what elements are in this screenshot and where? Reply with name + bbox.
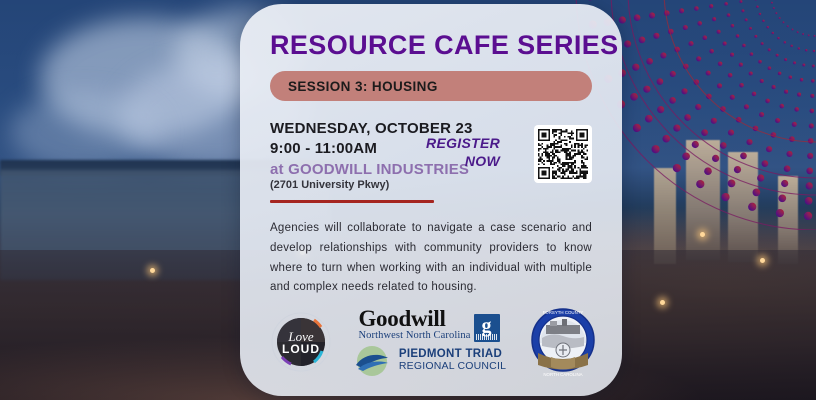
street-light bbox=[150, 268, 155, 273]
session-badge-label: SESSION 3: HOUSING bbox=[288, 79, 438, 94]
register-line-1: REGISTER bbox=[426, 135, 500, 153]
goodwill-smiling-g-icon: g bbox=[474, 314, 500, 342]
goodwill-wordmark: Goodwill Northwest North Carolina bbox=[358, 307, 470, 342]
qr-code-icon[interactable] bbox=[534, 125, 592, 183]
register-callout: REGISTER NOW bbox=[426, 135, 500, 170]
street-light bbox=[700, 232, 705, 237]
county-seal-svg: FORSYTH COUNTY NORTH CAROLINA bbox=[526, 305, 600, 379]
love-loud-logo: Love LOUD bbox=[270, 311, 332, 373]
svg-text:FORSYTH COUNTY: FORSYTH COUNTY bbox=[543, 310, 584, 315]
svg-text:LOUD: LOUD bbox=[282, 342, 320, 356]
piedmont-wordmark: PIEDMONT TRIAD REGIONAL COUNCIL bbox=[399, 348, 506, 373]
center-logos: Goodwill Northwest North Carolina g bbox=[340, 307, 518, 377]
page-title: RESOURCE CAFE SERIES bbox=[270, 32, 592, 59]
skyline-tower bbox=[686, 140, 720, 260]
street-light bbox=[760, 258, 765, 263]
svg-text:NORTH CAROLINA: NORTH CAROLINA bbox=[543, 372, 582, 377]
goodwill-region: Northwest North Carolina bbox=[358, 331, 470, 342]
love-loud-logo-svg: Love LOUD bbox=[270, 311, 332, 373]
partner-logos: Love LOUD Goodwill Northwest North Carol… bbox=[270, 296, 600, 388]
street-light bbox=[660, 300, 665, 305]
goodwill-logo: Goodwill Northwest North Carolina g bbox=[358, 307, 499, 342]
content-card: RESOURCE CAFE SERIES SESSION 3: HOUSING … bbox=[240, 4, 622, 396]
event-details: WEDNESDAY, OCTOBER 23 9:00 - 11:00AM at … bbox=[270, 119, 592, 203]
piedmont-leaf-svg bbox=[352, 345, 392, 377]
piedmont-line-2: REGIONAL COUNCIL bbox=[399, 361, 506, 373]
description-paragraph: Agencies will collaborate to navigate a … bbox=[270, 219, 592, 298]
divider-rule bbox=[270, 200, 434, 203]
qr-code-svg bbox=[538, 129, 588, 179]
piedmont-triad-logo: PIEDMONT TRIAD REGIONAL COUNCIL bbox=[352, 345, 506, 377]
session-badge: SESSION 3: HOUSING bbox=[270, 71, 592, 101]
skyline-tower bbox=[728, 152, 758, 262]
goodwill-g-glyph: g bbox=[482, 316, 492, 336]
goodwill-name: Goodwill bbox=[358, 307, 470, 330]
piedmont-leaf-icon bbox=[352, 345, 392, 377]
poster-canvas: RESOURCE CAFE SERIES SESSION 3: HOUSING … bbox=[0, 0, 816, 400]
county-seal-logo: FORSYTH COUNTY NORTH CAROLINA bbox=[526, 305, 600, 379]
register-line-2: NOW bbox=[426, 153, 500, 171]
